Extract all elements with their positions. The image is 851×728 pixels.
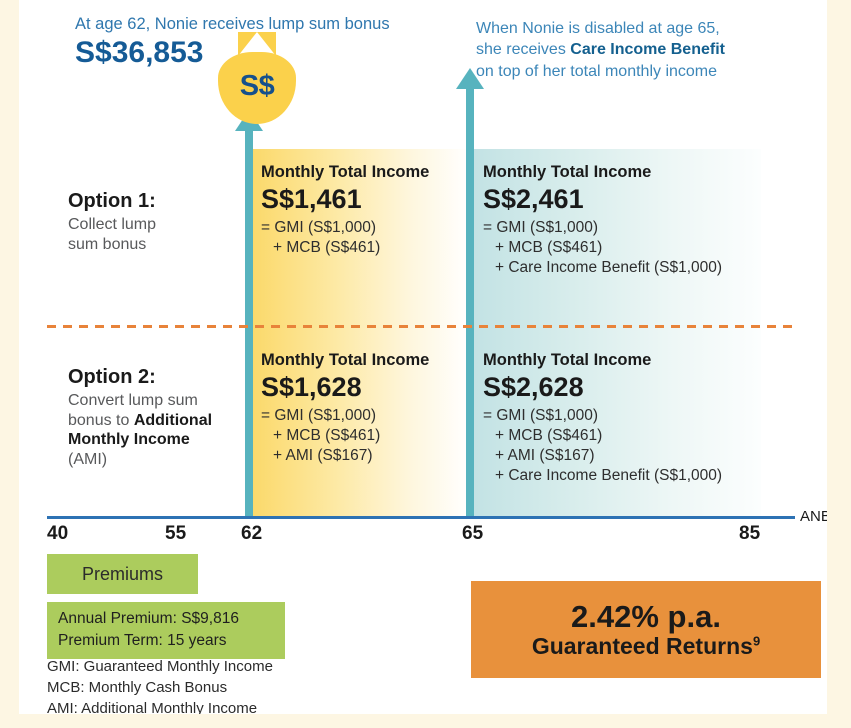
panel-breakdown: = GMI (S$1,000) + MCB (S$461) + Care Inc… — [483, 218, 722, 278]
axis-tick-62: 62 — [241, 523, 262, 545]
panel-label: Monthly Total Income — [261, 351, 429, 371]
option-divider — [47, 325, 795, 328]
axis-tick-40: 40 — [47, 523, 68, 545]
lump-sum-amount: S$36,853 — [75, 36, 475, 69]
breakdown-row: = GMI (S$1,000) — [261, 218, 429, 238]
panel-option1-age65: Monthly Total Income S$2,461 = GMI (S$1,… — [483, 163, 722, 278]
guaranteed-returns-rate: 2.42% p.a. — [571, 600, 721, 633]
abbreviation-legend: GMI: Guaranteed Monthly Income MCB: Mont… — [47, 656, 273, 714]
annual-premium-value: Annual Premium: S$9,816 — [58, 608, 275, 630]
option-1-title: Option 1: — [68, 190, 243, 213]
panel-label: Monthly Total Income — [261, 163, 429, 183]
panel-option1-age62: Monthly Total Income S$1,461 = GMI (S$1,… — [261, 163, 429, 258]
panel-breakdown: = GMI (S$1,000) + MCB (S$461) + AMI (S$1… — [483, 406, 722, 487]
premiums-header: Premiums — [47, 554, 198, 594]
panel-breakdown: = GMI (S$1,000) + MCB (S$461) — [261, 218, 429, 258]
age-marker-65 — [466, 149, 474, 516]
lump-sum-arrow-shaft — [245, 129, 253, 153]
breakdown-row: = GMI (S$1,000) — [483, 406, 722, 426]
breakdown-row: + AMI (S$167) — [261, 446, 429, 466]
breakdown-row: + MCB (S$461) — [483, 426, 722, 446]
canvas: S$ At age 62, Nonie receives lump sum bo… — [19, 0, 827, 714]
option-1-description: Collect lump sum bonus — [68, 215, 243, 254]
legend-item-mcb: MCB: Monthly Cash Bonus — [47, 677, 273, 698]
premium-term-value: Premium Term: 15 years — [58, 630, 275, 652]
premiums-details: Annual Premium: S$9,816 Premium Term: 15… — [47, 602, 285, 659]
breakdown-row: = GMI (S$1,000) — [261, 406, 429, 426]
option-2-desc-line2: bonus to Additional — [68, 411, 243, 431]
breakdown-row: + MCB (S$461) — [261, 426, 429, 446]
option-2-title: Option 2: — [68, 366, 243, 389]
panel-label: Monthly Total Income — [483, 351, 722, 371]
guaranteed-returns-label: Guaranteed Returns9 — [532, 633, 760, 659]
care-benefit-callout: When Nonie is disabled at age 65, she re… — [476, 18, 776, 82]
axis-tick-55: 55 — [165, 523, 186, 545]
option-2-desc-line3: Monthly Income — [68, 430, 243, 450]
panel-amount: S$2,628 — [483, 372, 722, 404]
option-2-desc-bold: Additional — [134, 412, 212, 429]
panel-amount: S$1,461 — [261, 184, 429, 216]
guaranteed-returns-text: Guaranteed Returns — [532, 633, 753, 659]
option-2-label: Option 2: Convert lump sum bonus to Addi… — [68, 366, 243, 469]
breakdown-row: = GMI (S$1,000) — [483, 218, 722, 238]
care-benefit-arrow-shaft — [466, 88, 474, 154]
breakdown-row: + MCB (S$461) — [483, 238, 722, 258]
premiums-header-label: Premiums — [82, 564, 163, 585]
care-benefit-line2-prefix: she receives — [476, 41, 570, 58]
panel-breakdown: = GMI (S$1,000) + MCB (S$461) + AMI (S$1… — [261, 406, 429, 466]
axis-unit-label: ANB — [800, 508, 827, 525]
legend-item-ami: AMI: Additional Monthly Income — [47, 698, 273, 714]
care-benefit-line2-bold: Care Income Benefit — [570, 41, 725, 58]
breakdown-row: + MCB (S$461) — [261, 238, 429, 258]
option-2-desc-line4: (AMI) — [68, 450, 243, 470]
lump-sum-callout-text: At age 62, Nonie receives lump sum bonus — [75, 14, 475, 35]
age-marker-62 — [245, 149, 253, 516]
axis-tick-85: 85 — [739, 523, 760, 545]
panel-option2-age62: Monthly Total Income S$1,628 = GMI (S$1,… — [261, 351, 429, 466]
breakdown-row: + Care Income Benefit (S$1,000) — [483, 466, 722, 486]
care-benefit-line1: When Nonie is disabled at age 65, — [476, 18, 776, 39]
care-benefit-line2: she receives Care Income Benefit — [476, 39, 776, 60]
option-1-desc-line2: sum bonus — [68, 235, 243, 255]
option-1-desc-line1: Collect lump — [68, 215, 243, 235]
panel-label: Monthly Total Income — [483, 163, 722, 183]
legend-item-gmi: GMI: Guaranteed Monthly Income — [47, 656, 273, 677]
option-2-description: Convert lump sum bonus to Additional Mon… — [68, 391, 243, 469]
option-2-desc-line2-text: bonus to — [68, 412, 134, 429]
breakdown-row: + Care Income Benefit (S$1,000) — [483, 258, 722, 278]
panel-option2-age65: Monthly Total Income S$2,628 = GMI (S$1,… — [483, 351, 722, 486]
timeline-axis — [47, 516, 795, 519]
breakdown-row: + AMI (S$167) — [483, 446, 722, 466]
guaranteed-returns-footnote: 9 — [753, 633, 760, 648]
panel-amount: S$2,461 — [483, 184, 722, 216]
infographic-page: S$ At age 62, Nonie receives lump sum bo… — [0, 0, 851, 728]
lump-sum-callout: At age 62, Nonie receives lump sum bonus… — [75, 14, 475, 69]
care-benefit-line3: on top of her total monthly income — [476, 61, 776, 82]
axis-tick-65: 65 — [462, 523, 483, 545]
option-2-desc-line1: Convert lump sum — [68, 391, 243, 411]
guaranteed-returns-box: 2.42% p.a. Guaranteed Returns9 — [471, 581, 821, 678]
money-bag-label: S$ — [216, 70, 298, 103]
option-1-label: Option 1: Collect lump sum bonus — [68, 190, 243, 254]
panel-amount: S$1,628 — [261, 372, 429, 404]
